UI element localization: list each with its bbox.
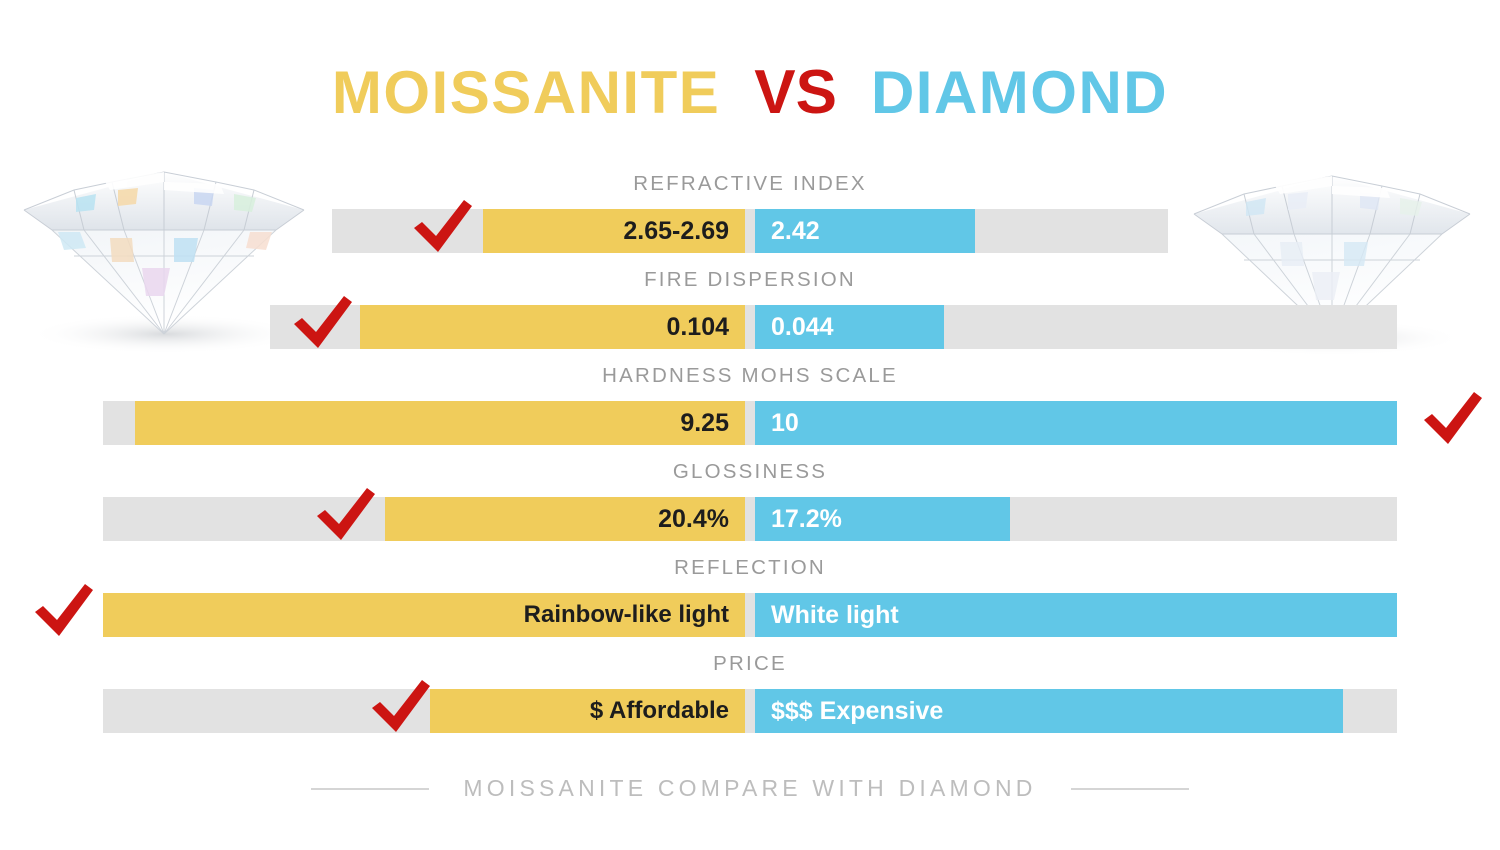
page-title: MOISSANITE VS DIAMOND xyxy=(0,62,1500,124)
row-label: GLOSSINESS xyxy=(0,460,1500,484)
comparison-row: FIRE DISPERSION0.1040.044 xyxy=(0,264,1500,360)
winner-check-icon xyxy=(370,678,432,734)
row-label: FIRE DISPERSION xyxy=(0,268,1500,292)
moissanite-value: $ Affordable xyxy=(590,697,729,725)
diamond-value: 10 xyxy=(771,409,799,438)
comparison-row: HARDNESS MOHS SCALE9.2510 xyxy=(0,360,1500,456)
moissanite-bar: Rainbow-like light xyxy=(103,593,745,637)
winner-check-icon xyxy=(315,486,377,542)
row-bars: $ Affordable$$$ Expensive xyxy=(0,689,1500,733)
footer-caption: MOISSANITE COMPARE WITH DIAMOND xyxy=(0,775,1500,802)
moissanite-value: 9.25 xyxy=(680,409,729,438)
moissanite-value: Rainbow-like light xyxy=(524,601,729,629)
footer-rule-left xyxy=(311,788,429,790)
infographic-canvas: MOISSANITE VS DIAMOND REFRACTIVE INDEX2.… xyxy=(0,0,1500,850)
diamond-value: 17.2% xyxy=(771,505,842,534)
moissanite-value: 2.65-2.69 xyxy=(623,217,729,246)
winner-check-icon xyxy=(33,582,95,638)
moissanite-bar: 0.104 xyxy=(360,305,745,349)
row-bars: Rainbow-like lightWhite light xyxy=(0,593,1500,637)
comparison-row: GLOSSINESS20.4%17.2% xyxy=(0,456,1500,552)
diamond-bar: 2.42 xyxy=(755,209,975,253)
diamond-value: 2.42 xyxy=(771,217,820,246)
moissanite-value: 20.4% xyxy=(658,505,729,534)
footer-text: MOISSANITE COMPARE WITH DIAMOND xyxy=(463,775,1036,802)
row-bars: 2.65-2.692.42 xyxy=(0,209,1500,253)
bar-track xyxy=(103,497,1397,541)
diamond-bar: 10 xyxy=(755,401,1397,445)
footer-rule-right xyxy=(1071,788,1189,790)
title-vs: VS xyxy=(754,62,837,124)
comparison-rows: REFRACTIVE INDEX2.65-2.692.42FIRE DISPER… xyxy=(0,168,1500,744)
row-label: REFRACTIVE INDEX xyxy=(0,172,1500,196)
row-label: PRICE xyxy=(0,652,1500,676)
comparison-row: REFLECTIONRainbow-like lightWhite light xyxy=(0,552,1500,648)
row-label: REFLECTION xyxy=(0,556,1500,580)
diamond-value: $$$ Expensive xyxy=(771,697,943,726)
moissanite-bar: $ Affordable xyxy=(430,689,745,733)
comparison-row: PRICE$ Affordable$$$ Expensive xyxy=(0,648,1500,744)
diamond-value: 0.044 xyxy=(771,313,834,342)
diamond-bar: $$$ Expensive xyxy=(755,689,1343,733)
diamond-bar: 0.044 xyxy=(755,305,944,349)
title-diamond: DIAMOND xyxy=(871,63,1168,123)
moissanite-bar: 20.4% xyxy=(385,497,745,541)
diamond-bar: 17.2% xyxy=(755,497,1010,541)
title-moissanite: MOISSANITE xyxy=(332,63,720,123)
moissanite-value: 0.104 xyxy=(666,313,729,342)
winner-check-icon xyxy=(292,294,354,350)
winner-check-icon xyxy=(1422,390,1484,446)
moissanite-bar: 9.25 xyxy=(135,401,745,445)
row-label: HARDNESS MOHS SCALE xyxy=(0,364,1500,388)
diamond-value: White light xyxy=(771,601,899,630)
diamond-bar: White light xyxy=(755,593,1397,637)
moissanite-bar: 2.65-2.69 xyxy=(483,209,745,253)
comparison-row: REFRACTIVE INDEX2.65-2.692.42 xyxy=(0,168,1500,264)
row-bars: 9.2510 xyxy=(0,401,1500,445)
row-bars: 20.4%17.2% xyxy=(0,497,1500,541)
winner-check-icon xyxy=(412,198,474,254)
row-bars: 0.1040.044 xyxy=(0,305,1500,349)
